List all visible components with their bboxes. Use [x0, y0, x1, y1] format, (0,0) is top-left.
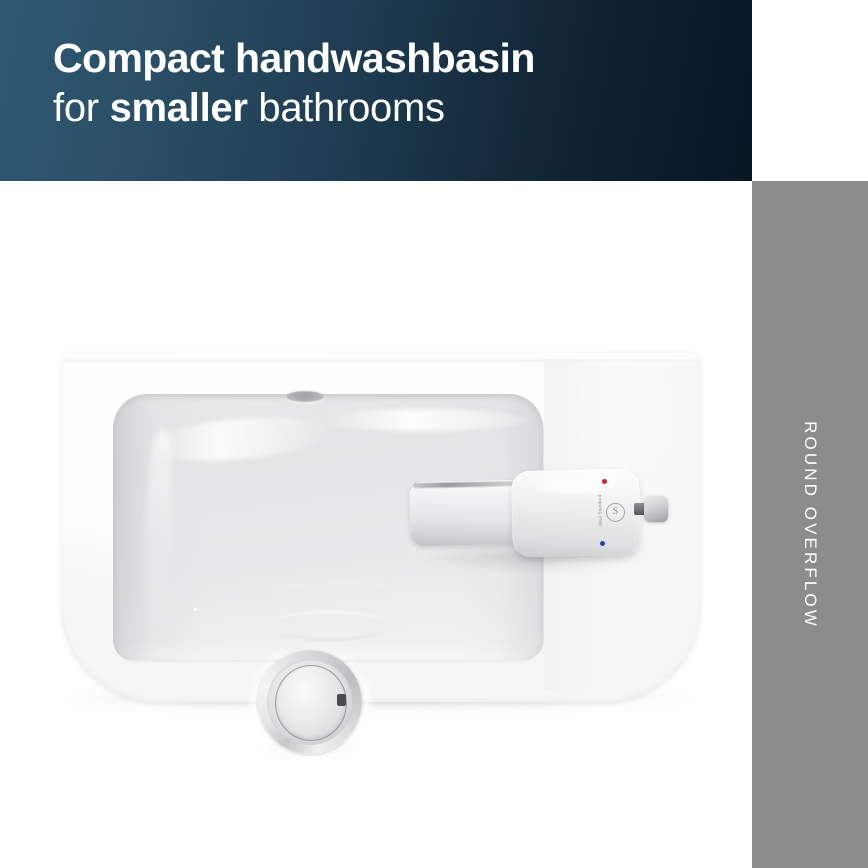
page-subtitle: for smaller bathrooms	[53, 84, 713, 132]
tap-hot-indicator-dot	[602, 479, 607, 484]
promo-canvas: Compact handwashbasin for smaller bathro…	[0, 0, 868, 868]
feature-rail: ROUND OVERFLOW	[752, 181, 868, 868]
product-image-stage: S Ideal Standard	[0, 181, 752, 868]
feature-rail-label: ROUND OVERFLOW	[800, 421, 820, 629]
drain-waste	[258, 650, 362, 754]
page-title: Compact handwashbasin	[53, 34, 713, 82]
round-overflow-hole	[286, 391, 324, 402]
subtitle-suffix: bathrooms	[248, 86, 445, 130]
header-banner: Compact handwashbasin for smaller bathro…	[0, 0, 752, 181]
brand-s-icon: S	[606, 503, 625, 522]
drain-notch	[337, 694, 346, 706]
tap-spout-arm	[409, 480, 526, 546]
tap-cold-indicator-dot	[600, 541, 605, 546]
header-text-block: Compact handwashbasin for smaller bathro…	[53, 34, 713, 132]
subtitle-emphasis: smaller	[110, 86, 248, 130]
brand-wordmark: Ideal Standard	[597, 494, 603, 528]
basin-rim-highlight	[63, 353, 699, 362]
tap-valve-knob	[644, 496, 668, 522]
tap-brand-mark: S Ideal Standard	[588, 494, 629, 535]
subtitle-prefix: for	[53, 86, 110, 130]
